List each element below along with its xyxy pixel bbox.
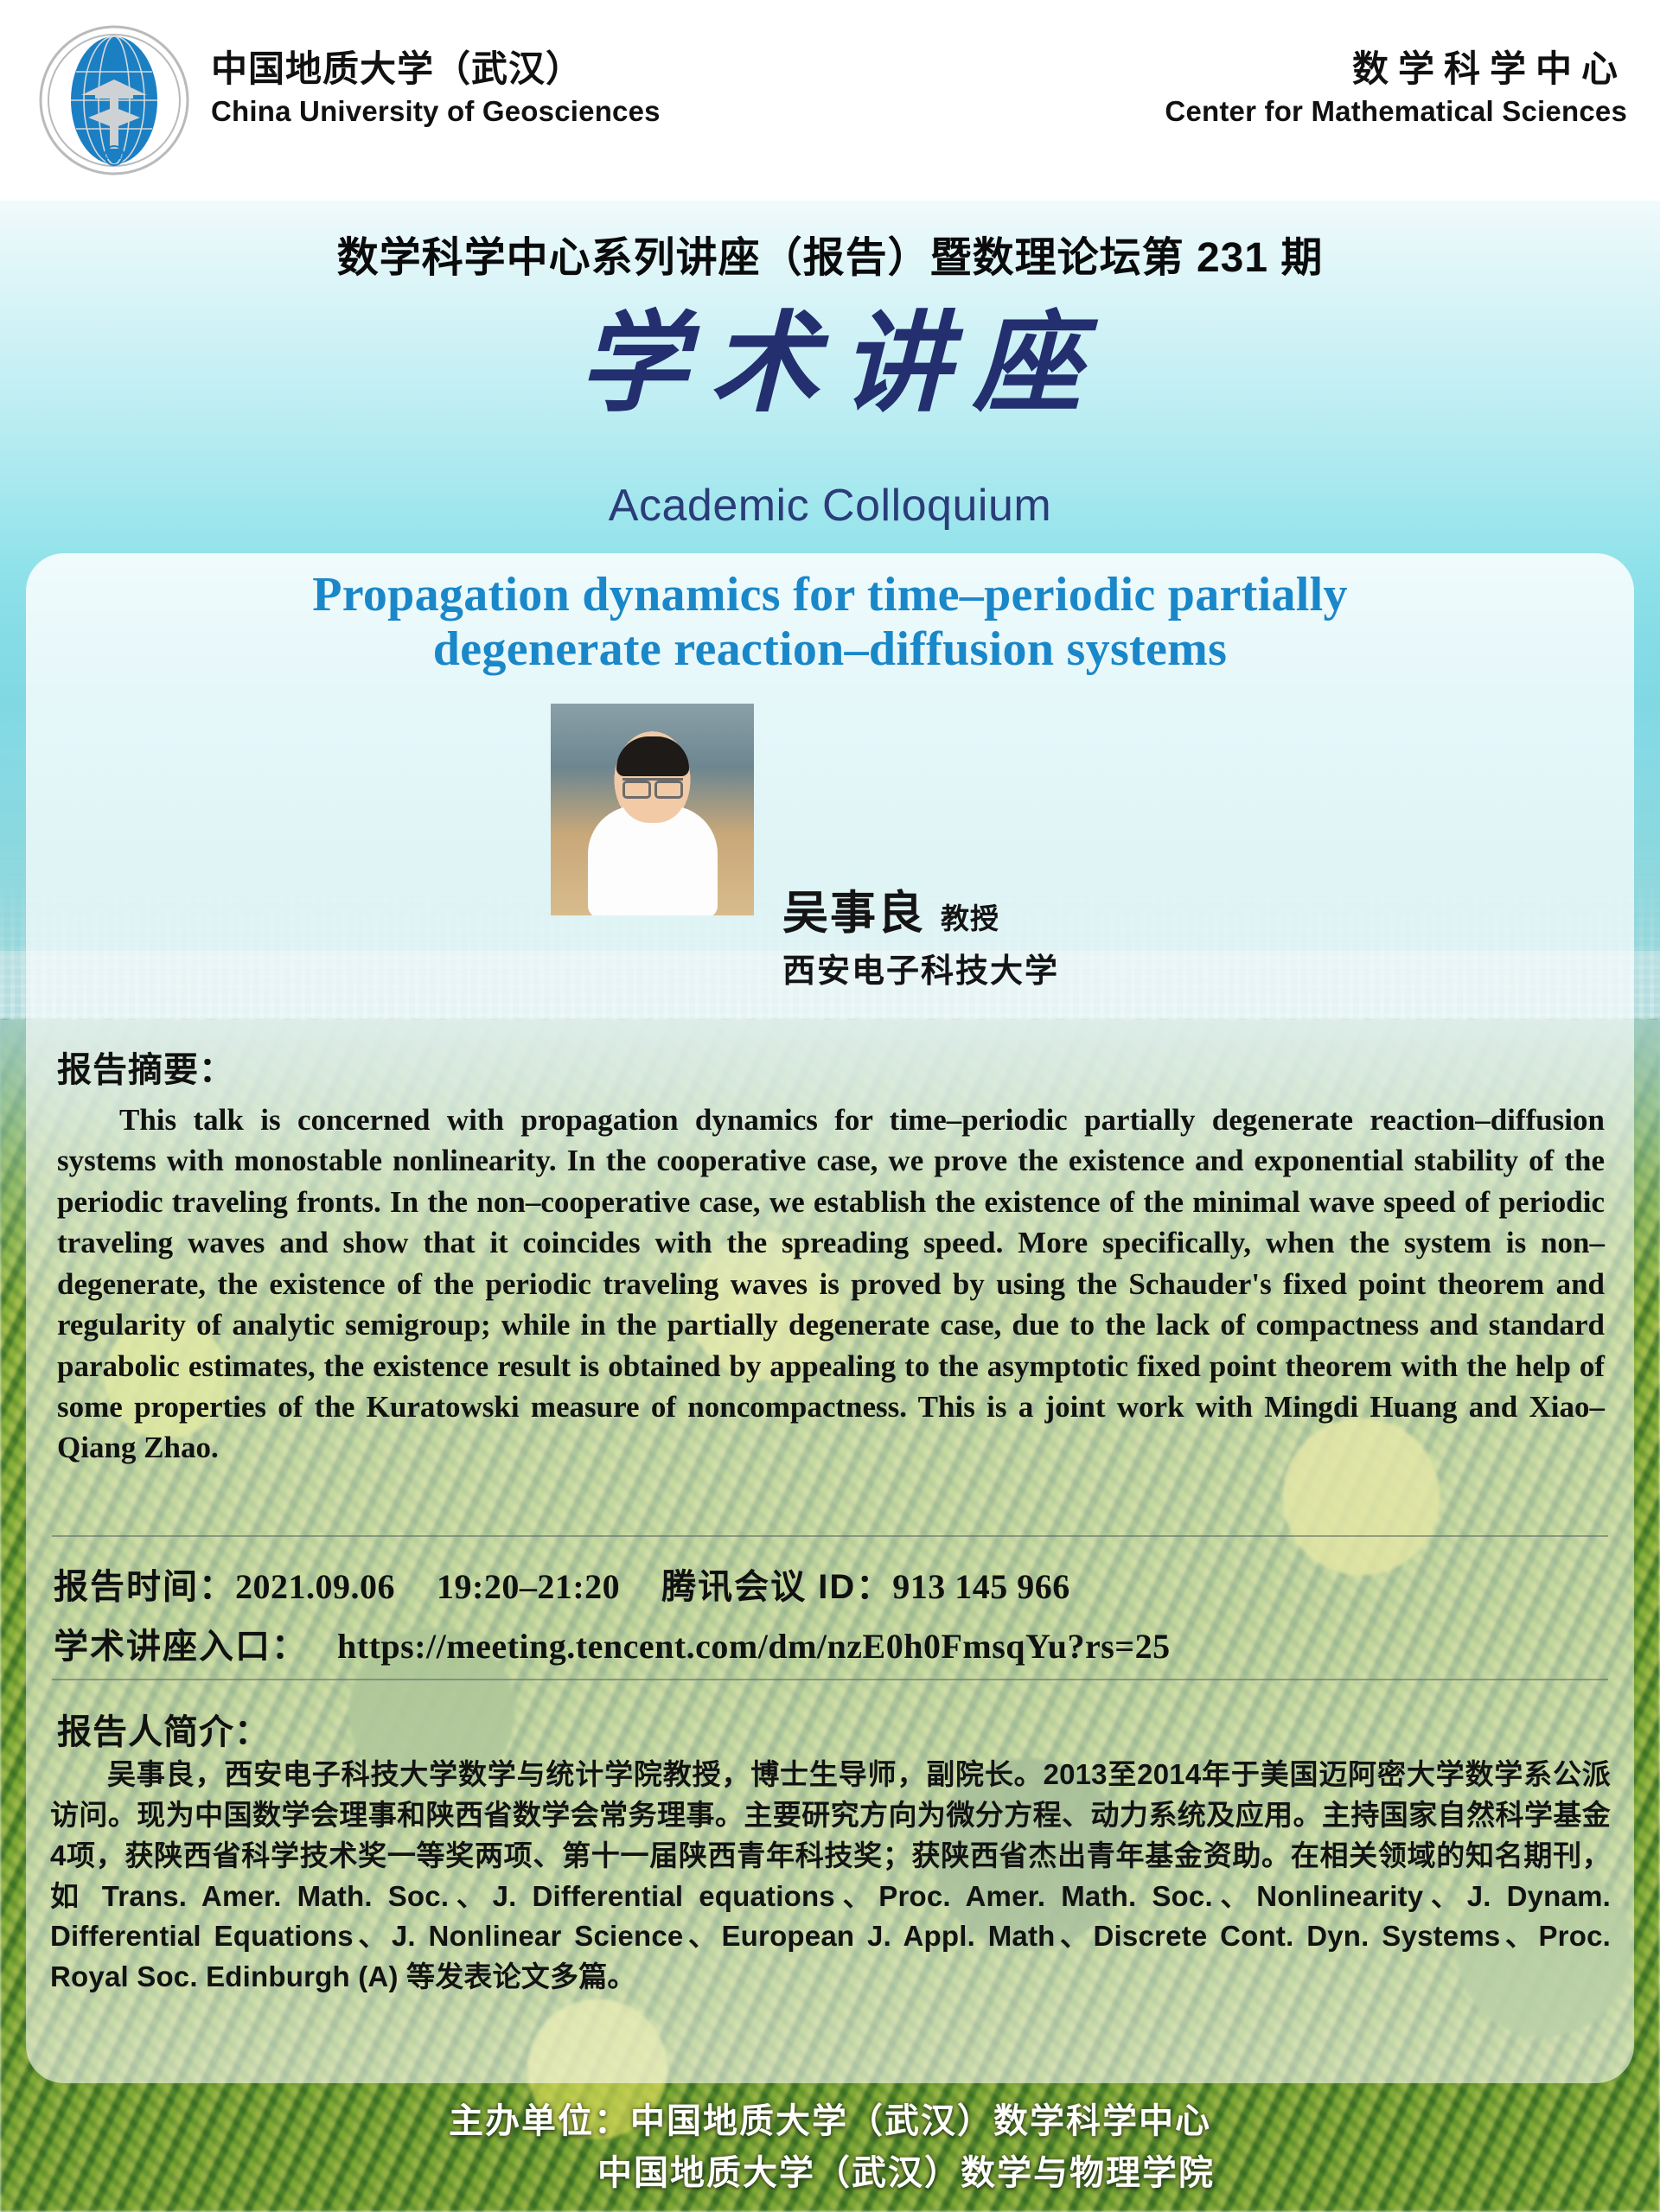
meeting-entry-url[interactable]: https://meeting.tencent.com/dm/nzE0h0Fms…: [337, 1627, 1171, 1666]
footer-organizers: 主办单位：中国地质大学（武汉）数学科学中心 中国地质大学（武汉）数学与物理学院: [0, 2095, 1660, 2199]
meeting-entry-row: 学术讲座入口：https://meeting.tencent.com/dm/nz…: [54, 1618, 1171, 1668]
divider-above-meeting: [52, 1535, 1608, 1537]
abstract-body: This talk is concerned with propagation …: [57, 1100, 1605, 1469]
center-name-cn: 数学科学中心: [1165, 48, 1627, 89]
center-name-en: Center for Mathematical Sciences: [1165, 94, 1627, 129]
university-brand: 中国地质大学（武汉） China University of Geoscienc…: [211, 48, 661, 129]
meeting-time-label: 报告时间：: [54, 1568, 235, 1606]
center-brand: 数学科学中心 Center for Mathematical Sciences: [1165, 48, 1627, 129]
meeting-time-range: 19:20–21:20: [437, 1567, 620, 1606]
series-subtitle: 数学科学中心系列讲座（报告）暨数理论坛第 231 期: [0, 223, 1660, 284]
talk-title: Propagation dynamics for time–periodic p…: [61, 568, 1599, 678]
bio-heading: 报告人简介：: [57, 1704, 270, 1754]
meeting-time-row: 报告时间：2021.09.0619:20–21:20腾讯会议 ID：913 14…: [54, 1559, 1070, 1609]
speaker-name: 吴事良: [782, 888, 925, 939]
header-band: 1952 中国地质大学（武汉） China University of Geos…: [0, 0, 1660, 201]
poster-root: 1952 中国地质大学（武汉） China University of Geos…: [0, 0, 1660, 2212]
university-name-en: China University of Geosciences: [211, 94, 661, 129]
speaker-affiliation: 西安电子科技大学: [782, 944, 1059, 991]
meeting-entry-label: 学术讲座入口：: [54, 1628, 308, 1666]
footer-line-2: 中国地质大学（武汉）数学与物理学院: [0, 2147, 1660, 2199]
svg-text:1952: 1952: [105, 152, 124, 162]
speaker-rank: 教授: [941, 902, 999, 934]
bio-body: 吴事良，西安电子科技大学数学与统计学院教授，博士生导师，副院长。2013至201…: [50, 1755, 1611, 1998]
talk-title-line1: Propagation dynamics for time–periodic p…: [312, 568, 1348, 622]
divider-above-bio: [52, 1679, 1608, 1680]
meeting-id-label: 腾讯会议 ID：: [661, 1568, 892, 1606]
speaker-name-row: 吴事良教授: [782, 877, 999, 942]
photo-hair-shape: [616, 736, 689, 776]
abstract-heading: 报告摘要：: [57, 1042, 234, 1092]
talk-title-line2: degenerate reaction–diffusion systems: [433, 622, 1227, 676]
photo-glasses-shape: [622, 778, 683, 794]
calligraphy-title-english: Academic Colloquium: [0, 480, 1660, 532]
university-name-cn: 中国地质大学（武汉）: [211, 48, 661, 89]
meeting-id-value: 913 145 966: [892, 1567, 1070, 1606]
meeting-date: 2021.09.06: [235, 1567, 395, 1606]
speaker-photo: [551, 704, 754, 915]
calligraphy-title: 学术讲座: [0, 304, 1660, 426]
footer-line-1: 主办单位：中国地质大学（武汉）数学科学中心: [0, 2095, 1660, 2147]
university-logo-icon: 1952: [38, 24, 190, 176]
